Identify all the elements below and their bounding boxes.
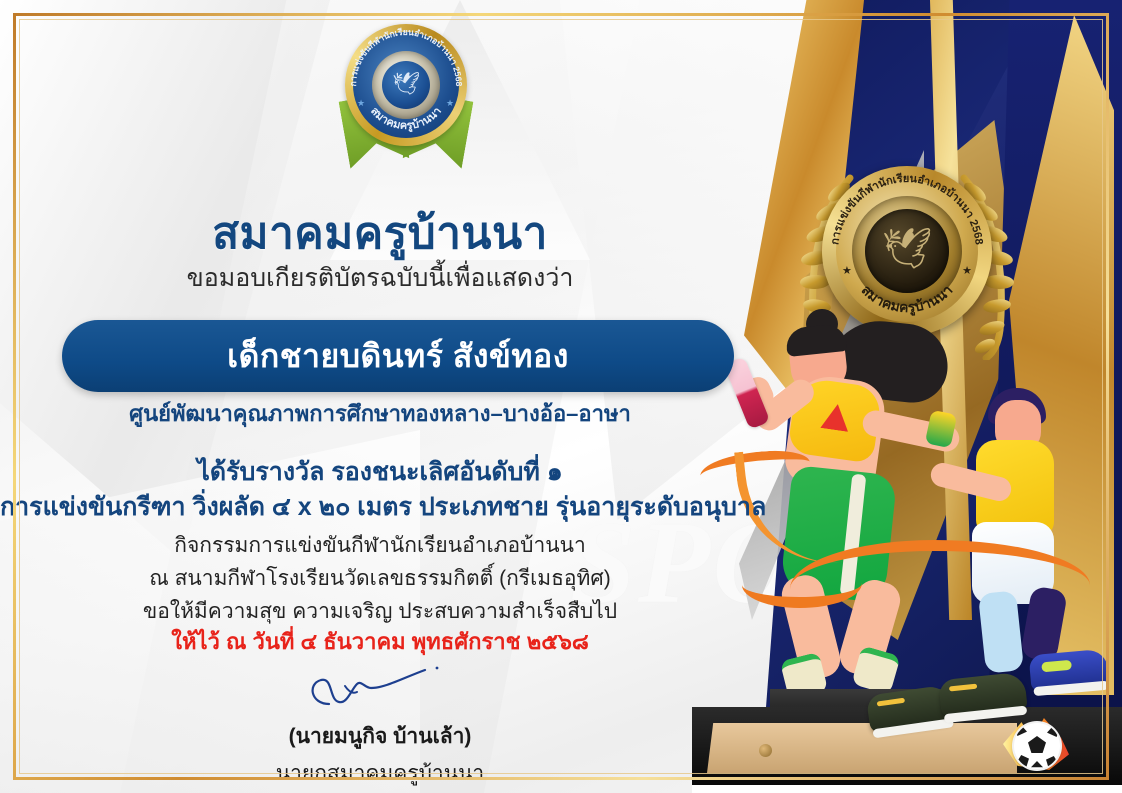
issue-date: ให้ไว้ ณ วันที่ ๔ ธันวาคม พุทธศักราช ๒๕๖… xyxy=(0,624,760,659)
award-line-2: การแข่งขันกรีฑา วิ่งผลัด ๔ x ๒๐ เมตร ประ… xyxy=(0,487,760,527)
certificate-subtitle: ขอมอบเกียรติบัตรฉบับนี้เพื่อแสดงว่า xyxy=(0,258,760,298)
signer-role: นายกสมาคมครูบ้านนา xyxy=(0,757,760,790)
shoe-accent xyxy=(1041,660,1072,673)
certificate-page: SPORT AY xyxy=(0,0,1122,793)
body-line-2: ณ สนามกีฬาโรงเรียนวัดเลขธรรมกิตติ์ (กรีเ… xyxy=(0,562,760,595)
soccer-cleat xyxy=(1029,649,1110,692)
signature-block: (นายมนูกิจ บ้านเล้า) นายกสมาคมครูบ้านนา xyxy=(0,664,760,784)
award-line-1: ได้รับรางวัล รองชนะเลิศอันดับที่ ๑ xyxy=(0,452,760,492)
screw-icon xyxy=(759,744,772,757)
school-name: ศูนย์พัฒนาคุณภาพการศึกษาทองหลาง–บางอ้อ–อ… xyxy=(0,396,760,431)
medal-text-ring: การแข่งขันกีฬานักเรียนอำเภอบ้านนา 2568 ส… xyxy=(822,166,992,336)
ball-panel xyxy=(1031,761,1043,769)
shoe-lace xyxy=(949,684,977,692)
certificate-text-block: สมาคมครูบ้านนา ขอมอบเกียรติบัตรฉบับนี้เพ… xyxy=(0,0,760,793)
recipient-name-banner: เด็กชายบดินทร์ สังข์ทอง xyxy=(62,320,734,392)
running-shoe-right xyxy=(938,672,1028,719)
soccer-ball-icon xyxy=(1014,723,1060,769)
star-icon: ★ xyxy=(842,264,852,277)
ball-panel xyxy=(1028,736,1046,753)
signature-icon xyxy=(285,664,475,716)
body-line-1: กิจกรรมการแข่งขันกีฬานักเรียนอำเภอบ้านนา xyxy=(0,529,760,562)
wreath-arc-text: การแข่งขันกีฬานักเรียนอำเภอบ้านนา 2568 xyxy=(829,172,984,245)
shoe-lace xyxy=(877,698,905,707)
recipient-name: เด็กชายบดินทร์ สังข์ทอง xyxy=(62,320,734,392)
wreath-bottom-text: สมาคมครูบ้านนา xyxy=(858,282,955,316)
star-icon: ★ xyxy=(962,264,972,277)
signer-name: (นายมนูกิจ บ้านเล้า) xyxy=(0,720,760,753)
